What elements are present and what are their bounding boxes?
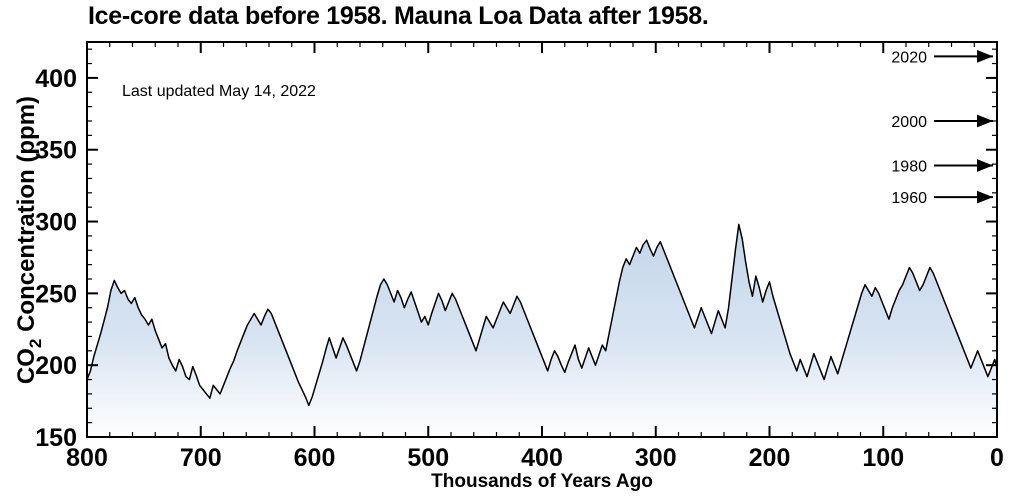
y-axis-title-prefix: CO bbox=[13, 348, 40, 384]
y-tick-label: 150 bbox=[35, 424, 77, 452]
x-tick-label: 600 bbox=[294, 444, 336, 472]
year-annotation-label: 2000 bbox=[891, 114, 927, 131]
x-tick-label: 700 bbox=[180, 444, 222, 472]
year-annotation-label: 1960 bbox=[891, 190, 927, 207]
y-tick-label: 350 bbox=[35, 137, 77, 165]
x-axis-title: Thousands of Years Ago bbox=[431, 471, 653, 492]
y-tick-label: 200 bbox=[35, 352, 77, 380]
year-annotation-label: 2020 bbox=[891, 49, 927, 66]
co2-ice-core-chart-figure: Ice-core data before 1958. Mauna Loa Dat… bbox=[0, 0, 1018, 500]
year-annotations: 2020200019801960 bbox=[891, 49, 993, 207]
x-tick-label: 100 bbox=[862, 444, 904, 472]
last-updated-note: Last updated May 14, 2022 bbox=[122, 83, 316, 100]
y-tick-label: 300 bbox=[35, 209, 77, 237]
year-annotation-label: 1980 bbox=[891, 159, 927, 176]
x-tick-label: 500 bbox=[407, 444, 449, 472]
x-tick-label: 400 bbox=[521, 444, 563, 472]
y-axis-tick-labels: 150200250300350400 bbox=[35, 65, 77, 452]
x-tick-label: 200 bbox=[749, 444, 791, 472]
x-tick-label: 0 bbox=[990, 444, 1004, 472]
x-axis-tick-labels: 8007006005004003002001000 bbox=[66, 444, 1004, 472]
co2-area-fill bbox=[87, 224, 997, 437]
y-axis-title-suffix: Concentration (ppm) bbox=[13, 96, 40, 339]
y-tick-label: 250 bbox=[35, 280, 77, 308]
plot-area-svg: 8007006005004003002001000 15020025030035… bbox=[0, 0, 1018, 500]
x-tick-label: 300 bbox=[635, 444, 677, 472]
y-axis-title-subscript: 2 bbox=[26, 339, 45, 348]
y-tick-label: 400 bbox=[35, 65, 77, 93]
